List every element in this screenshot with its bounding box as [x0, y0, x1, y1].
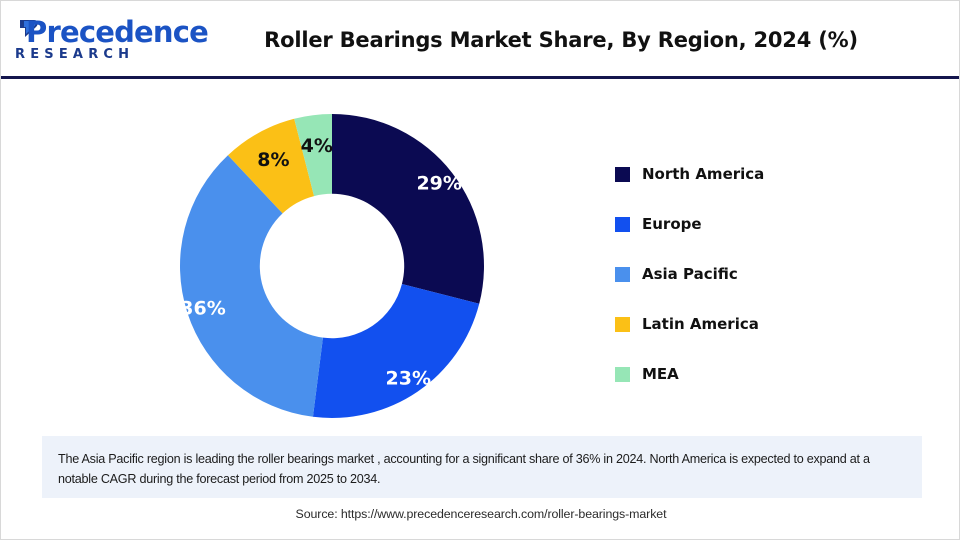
legend-item-latin-america[interactable]: Latin America: [615, 299, 915, 349]
legend-item-asia-pacific[interactable]: Asia Pacific: [615, 249, 915, 299]
legend-swatch-icon: [615, 367, 630, 382]
donut-slice-label: 8%: [257, 149, 289, 171]
donut-slice-label: 36%: [180, 297, 225, 319]
donut-slices: [180, 114, 484, 418]
legend-swatch-icon: [615, 317, 630, 332]
legend-swatch-icon: [615, 167, 630, 182]
donut-slice-label: 23%: [386, 368, 431, 390]
header-bar: Precedence RESEARCH Roller Bearings Mark…: [1, 1, 960, 79]
insight-note-text: The Asia Pacific region is leading the r…: [58, 449, 906, 489]
legend: North America Europe Asia Pacific Latin …: [615, 149, 915, 399]
precedence-research-logo: Precedence RESEARCH: [10, 17, 176, 65]
legend-item-label: Europe: [642, 215, 702, 233]
page-title: Roller Bearings Market Share, By Region,…: [201, 28, 921, 52]
donut-slice[interactable]: [313, 284, 479, 418]
donut-chart-svg: 29%23%36%8%4%: [179, 113, 485, 419]
chart-infographic: Precedence RESEARCH Roller Bearings Mark…: [0, 0, 960, 540]
legend-item-europe[interactable]: Europe: [615, 199, 915, 249]
legend-swatch-icon: [615, 217, 630, 232]
logo-subtext: RESEARCH: [15, 48, 134, 62]
donut-slice-label: 4%: [301, 135, 333, 157]
donut-chart: 29%23%36%8%4%: [179, 113, 485, 419]
legend-item-label: North America: [642, 165, 764, 183]
donut-slice-label: 29%: [416, 172, 461, 194]
donut-slice[interactable]: [332, 114, 484, 304]
legend-item-mea[interactable]: MEA: [615, 349, 915, 399]
legend-item-label: MEA: [642, 365, 679, 383]
insight-note-box: The Asia Pacific region is leading the r…: [42, 436, 922, 498]
source-line: Source: https://www.precedenceresearch.c…: [1, 507, 960, 521]
legend-swatch-icon: [615, 267, 630, 282]
legend-item-north-america[interactable]: North America: [615, 149, 915, 199]
logo-wordmark: Precedence: [26, 17, 208, 47]
legend-item-label: Asia Pacific: [642, 265, 738, 283]
legend-item-label: Latin America: [642, 315, 759, 333]
